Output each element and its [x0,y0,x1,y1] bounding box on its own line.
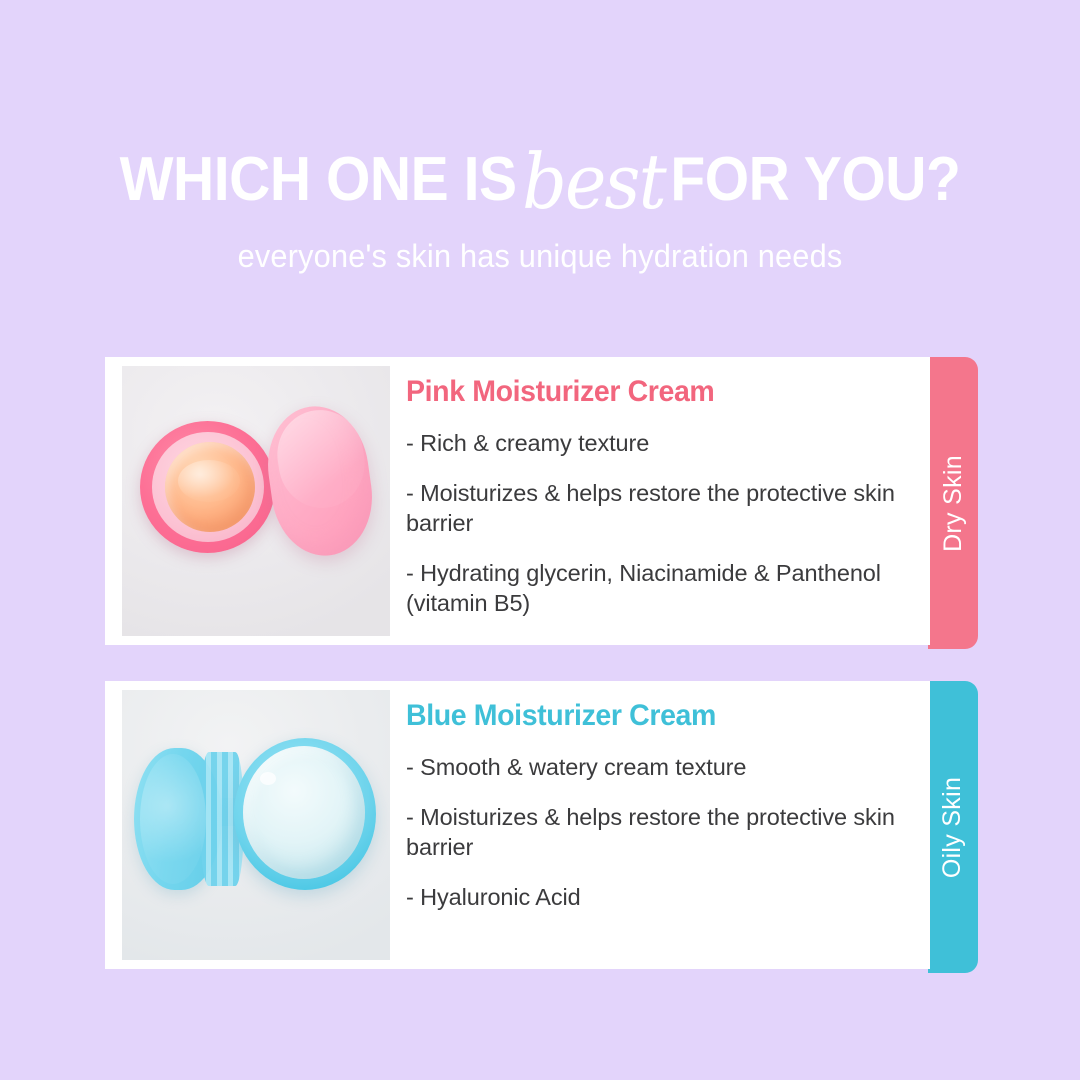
headline-script-word: best [517,137,671,226]
card-body-pink: Pink Moisturizer Cream - Rich & creamy t… [390,357,930,618]
skin-type-tab-dry: Dry Skin [928,357,978,649]
page-subtitle: everyone's skin has unique hydration nee… [22,238,1059,275]
cream-bubble-icon [260,772,276,785]
cream-surface-icon [243,746,365,879]
card-surface: Blue Moisturizer Cream - Smooth & watery… [105,681,930,969]
product-title: Pink Moisturizer Cream [406,375,887,408]
skin-type-tab-oily: Oily Skin [928,681,978,973]
headline-text-first: WHICH ONE IS [120,145,517,214]
product-title: Blue Moisturizer Cream [406,699,887,732]
product-photo-pink [122,366,390,636]
cream-highlight-icon [178,460,240,502]
skin-type-tab-label: Dry Skin [939,455,968,552]
product-feature: - Moisturizes & helps restore the protec… [406,478,912,538]
product-feature: - Hyaluronic Acid [406,882,912,912]
product-card-pink: Dry Skin Pink Moisturizer Cream - Rich &… [105,357,975,645]
card-surface: Pink Moisturizer Cream - Rich & creamy t… [105,357,930,645]
product-feature: - Smooth & watery cream texture [406,752,912,782]
jar-cap-highlight-icon [140,754,206,884]
product-photo-blue [122,690,390,960]
product-feature: - Rich & creamy texture [406,428,912,458]
product-feature: - Hydrating glycerin, Niacinamide & Pant… [406,558,912,618]
page-title: WHICH ONE ISbestFOR YOU? [43,136,1037,212]
card-body-blue: Blue Moisturizer Cream - Smooth & watery… [390,681,930,912]
header: WHICH ONE ISbestFOR YOU? everyone's skin… [0,0,1080,275]
product-card-blue: Oily Skin Blue Moisturizer Cream - Smoot… [105,681,975,969]
product-feature: - Moisturizes & helps restore the protec… [406,802,912,862]
headline-text-last: FOR YOU? [670,145,960,214]
skin-type-tab-label: Oily Skin [939,776,968,877]
